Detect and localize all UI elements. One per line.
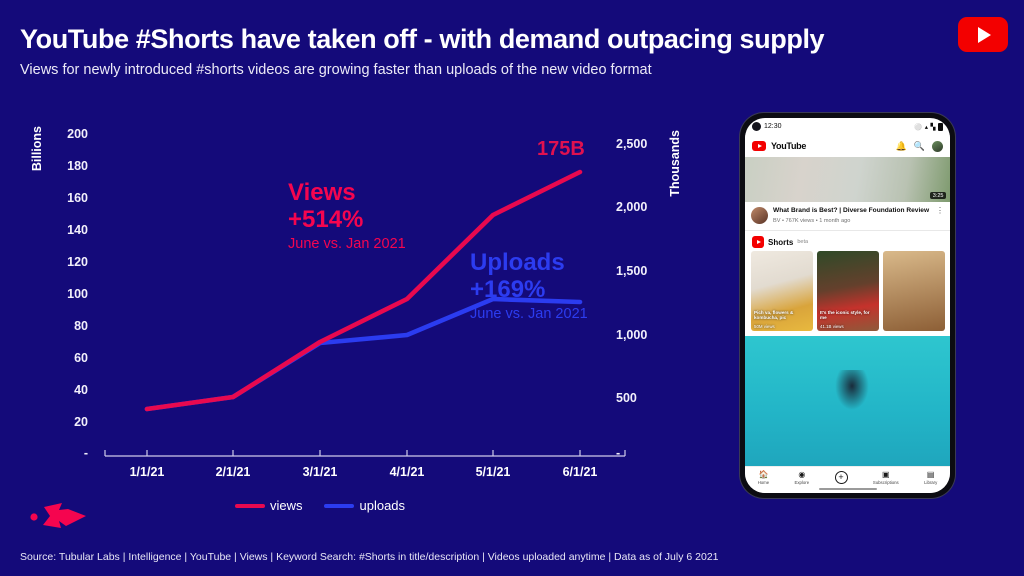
x-tick: 6/1/21 — [540, 465, 620, 479]
shorts-views: 41.1B views — [820, 324, 844, 329]
video-duration-badge: 3:25 — [930, 192, 946, 199]
status-time: 12:30 — [764, 123, 782, 130]
phone-screen: 12:30 ⚪ ▴ ▚ YouTube 🔔 🔍 3:25 — [745, 118, 950, 493]
shorts-label: Shorts — [768, 238, 793, 247]
youtube-wordmark: YouTube — [771, 141, 806, 151]
video-card[interactable]: What Brand is Best? | Diverse Foundation… — [745, 202, 950, 230]
annotation-views-value: +514% — [288, 207, 406, 234]
x-tick: 3/1/21 — [280, 465, 360, 479]
camera-punchhole-icon — [752, 122, 761, 131]
bell-icon[interactable]: 🔔 — [896, 141, 907, 152]
subscriptions-icon: ▣ — [882, 471, 890, 479]
shorts-caption: It's the iconic style, for me — [820, 310, 876, 321]
video-meta: BV • 767K views • 1 month ago — [773, 218, 931, 224]
x-tick: 1/1/21 — [107, 465, 187, 479]
dnd-icon: ⚪ — [914, 123, 922, 131]
hero-video-thumbnail[interactable]: 3:25 — [745, 157, 950, 202]
page-subtitle: Views for newly introduced #shorts video… — [20, 62, 652, 78]
nav-label: Home — [758, 480, 769, 485]
channel-avatar — [751, 207, 768, 224]
shorts-views: 50M views — [754, 324, 775, 329]
avatar[interactable] — [932, 141, 943, 152]
phone-mockup: 12:30 ⚪ ▴ ▚ YouTube 🔔 🔍 3:25 — [740, 113, 955, 498]
tubular-labs-logo — [28, 500, 94, 530]
shorts-beta-badge: beta — [797, 239, 808, 245]
nav-item-create[interactable]: + — [835, 471, 848, 485]
source-note: Source: Tubular Labs | Intelligence | Yo… — [20, 551, 719, 563]
nav-item-explore[interactable]: ◉ Explore — [795, 471, 810, 485]
legend-label-views: views — [270, 498, 303, 513]
video-card-body: What Brand is Best? | Diverse Foundation… — [773, 207, 931, 224]
legend-swatch-views — [235, 504, 265, 508]
youtube-app-bar: YouTube 🔔 🔍 — [745, 135, 950, 157]
search-icon[interactable]: 🔍 — [914, 141, 925, 152]
library-icon: ▤ — [927, 471, 935, 479]
x-tick: 5/1/21 — [453, 465, 533, 479]
shorts-thumbnail[interactable]: It's the iconic style, for me 41.1B view… — [817, 251, 879, 331]
nav-item-subscriptions[interactable]: ▣ Subscriptions — [873, 471, 899, 485]
chart-legend: views uploads — [0, 498, 640, 513]
nav-item-home[interactable]: 🏠 Home — [758, 471, 769, 485]
nav-label: Explore — [795, 480, 810, 485]
legend-label-uploads: uploads — [359, 498, 405, 513]
plus-circle-icon: + — [835, 471, 848, 484]
compass-icon: ◉ — [798, 471, 805, 479]
data-label-views-peak: 175B — [537, 138, 585, 161]
pool-video-thumbnail[interactable] — [745, 336, 950, 466]
home-icon: 🏠 — [758, 471, 768, 479]
slide: YouTube #Shorts have taken off - with de… — [0, 0, 1024, 576]
annotation-uploads-caption: June vs. Jan 2021 — [470, 304, 588, 324]
wifi-icon: ▴ — [925, 123, 928, 131]
kebab-menu-icon[interactable]: ⋮ — [936, 207, 944, 224]
app-bar-actions: 🔔 🔍 — [896, 141, 943, 152]
annotation-uploads: Uploads +169% June vs. Jan 2021 — [470, 250, 588, 324]
page-title: YouTube #Shorts have taken off - with de… — [20, 24, 824, 55]
plot-area — [0, 110, 710, 510]
legend-swatch-uploads — [324, 504, 354, 508]
video-title: What Brand is Best? | Diverse Foundation… — [773, 207, 931, 216]
annotation-views: Views +514% June vs. Jan 2021 — [288, 180, 406, 254]
shorts-thumbnail[interactable]: Pich va, flowers & kombucha, pic 50M vie… — [751, 251, 813, 331]
annotation-uploads-headline: Uploads — [470, 250, 588, 277]
x-tick: 2/1/21 — [193, 465, 273, 479]
chart: Billions Thousands 200 180 160 140 120 1… — [0, 110, 710, 510]
shorts-icon — [752, 236, 764, 248]
x-tick: 4/1/21 — [367, 465, 447, 479]
phone-status-bar: 12:30 ⚪ ▴ ▚ — [745, 118, 950, 135]
nav-label: Subscriptions — [873, 480, 899, 485]
shorts-section-header: Shorts beta — [745, 230, 950, 251]
signal-icon: ▚ — [931, 123, 936, 131]
legend-item-views: views — [235, 498, 303, 513]
nav-item-library[interactable]: ▤ Library — [924, 471, 937, 485]
annotation-uploads-value: +169% — [470, 277, 588, 304]
battery-icon — [938, 123, 943, 131]
legend-item-uploads: uploads — [324, 498, 405, 513]
annotation-views-headline: Views — [288, 180, 406, 207]
youtube-play-icon[interactable] — [752, 141, 766, 151]
status-icon-group: ⚪ ▴ ▚ — [914, 123, 943, 131]
shorts-thumbnail[interactable] — [883, 251, 945, 331]
home-indicator — [819, 488, 877, 491]
youtube-play-icon — [958, 17, 1008, 52]
shorts-caption: Pich va, flowers & kombucha, pic — [754, 310, 810, 321]
nav-label: Library — [924, 480, 937, 485]
annotation-views-caption: June vs. Jan 2021 — [288, 234, 406, 254]
swimmer-figure — [835, 370, 869, 410]
shorts-carousel[interactable]: Pich va, flowers & kombucha, pic 50M vie… — [745, 251, 950, 336]
